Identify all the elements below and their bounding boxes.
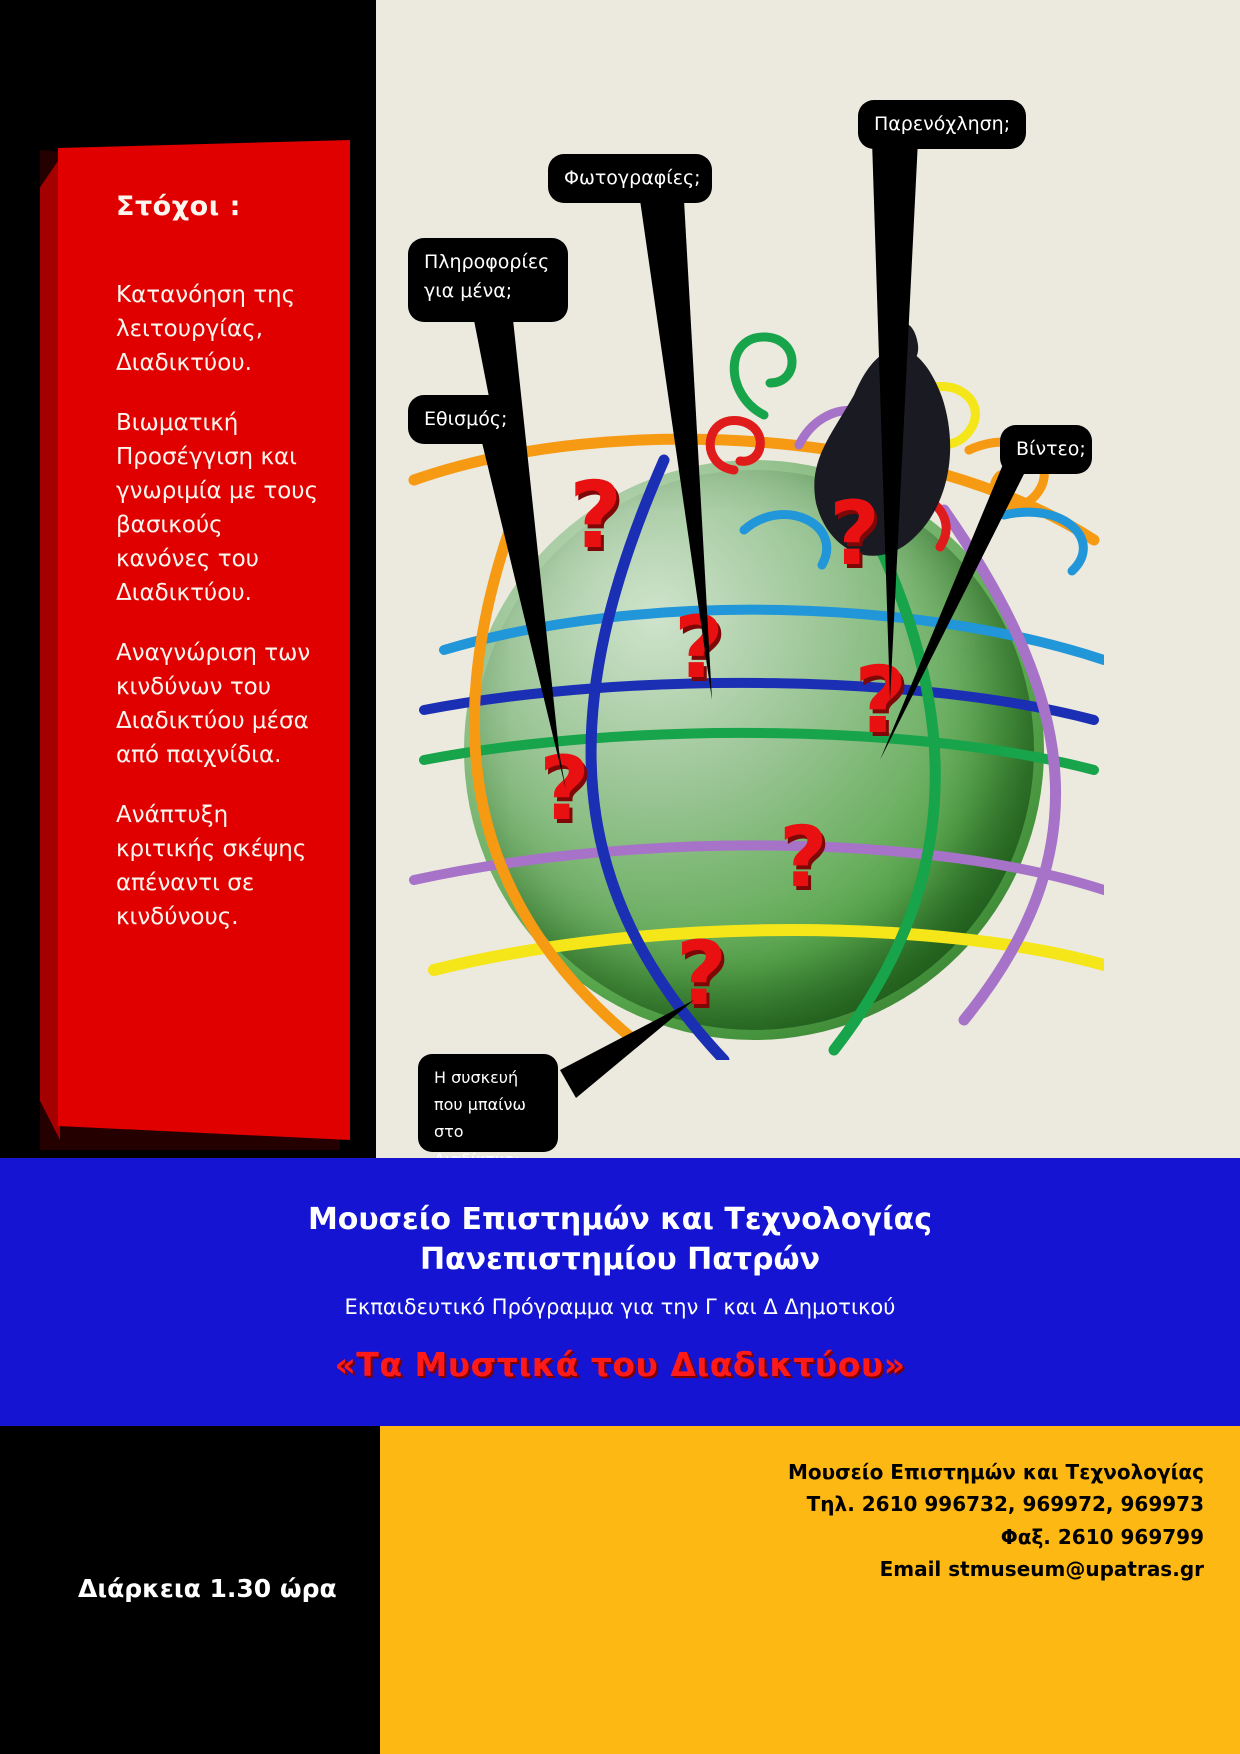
- pointer-video: [880, 462, 1026, 760]
- bubble-harassment: Παρενόχληση;: [858, 100, 1026, 149]
- contact-organization: Μουσείο Επιστημών και Τεχνολογίας: [788, 1456, 1204, 1488]
- upper-stage: ? ? ? ? ? ? ? Παρενόχληση; Φωτογραφίες; …: [0, 0, 1240, 1158]
- program-subtitle: Εκπαιδευτικό Πρόγραμμα για την Γ και Δ Δ…: [0, 1295, 1240, 1319]
- contact-phone: Τηλ. 2610 996732, 969972, 969973: [788, 1488, 1204, 1520]
- bubble-photos: Φωτογραφίες;: [548, 154, 712, 203]
- objective-item: Κατανόηση της λειτουργίας, Διαδικτύου.: [116, 278, 324, 380]
- bubble-addiction: Εθισμός;: [408, 395, 514, 444]
- objective-item: Ανάπτυξη κριτικής σκέψης απέναντι σε κιν…: [116, 798, 324, 934]
- poster-root: ? ? ? ? ? ? ? Παρενόχληση; Φωτογραφίες; …: [0, 0, 1240, 1754]
- objective-item: Βιωματική Προσέγγιση και γνωριμία με του…: [116, 406, 324, 610]
- contact-email: Email stmuseum@upatras.gr: [788, 1553, 1204, 1585]
- objectives-content: Στόχοι : Κατανόηση της λειτουργίας, Διαδ…: [58, 140, 350, 1140]
- bubble-info: Πληροφορίες για μένα;: [408, 238, 568, 322]
- pointer-harassment: [872, 140, 918, 700]
- museum-name-line2: Πανεπιστημίου Πατρών: [420, 1242, 820, 1277]
- bubble-device: Η συσκευή που μπαίνω στο Διαδίκτυο;: [418, 1054, 558, 1152]
- objectives-panel-side: [40, 158, 60, 1140]
- museum-name-line1: Μουσείο Επιστημών και Τεχνολογίας: [308, 1202, 932, 1237]
- program-title: «Τα Μυστικά του Διαδικτύου»: [0, 1345, 1240, 1384]
- contact-box: Μουσείο Επιστημών και Τεχνολογίας Τηλ. 2…: [380, 1426, 1240, 1754]
- pointer-device: [560, 1000, 694, 1098]
- museum-banner: Μουσείο Επιστημών και Τεχνολογίας Πανεπι…: [0, 1158, 1240, 1426]
- footer-strip: Μουσείο Επιστημών και Τεχνολογίας Τηλ. 2…: [0, 1426, 1240, 1754]
- objectives-title: Στόχοι :: [116, 192, 324, 222]
- objective-item: Αναγνώριση των κινδύνων του Διαδικτύου μ…: [116, 636, 324, 772]
- museum-name: Μουσείο Επιστημών και Τεχνολογίας Πανεπι…: [0, 1158, 1240, 1279]
- contact-details: Μουσείο Επιστημών και Τεχνολογίας Τηλ. 2…: [788, 1456, 1204, 1586]
- bubble-video: Βίντεο;: [1000, 425, 1092, 474]
- duration-label: Διάρκεια 1.30 ώρα: [78, 1574, 337, 1603]
- pointer-photos: [640, 200, 712, 700]
- contact-fax: Φαξ. 2610 969799: [788, 1521, 1204, 1553]
